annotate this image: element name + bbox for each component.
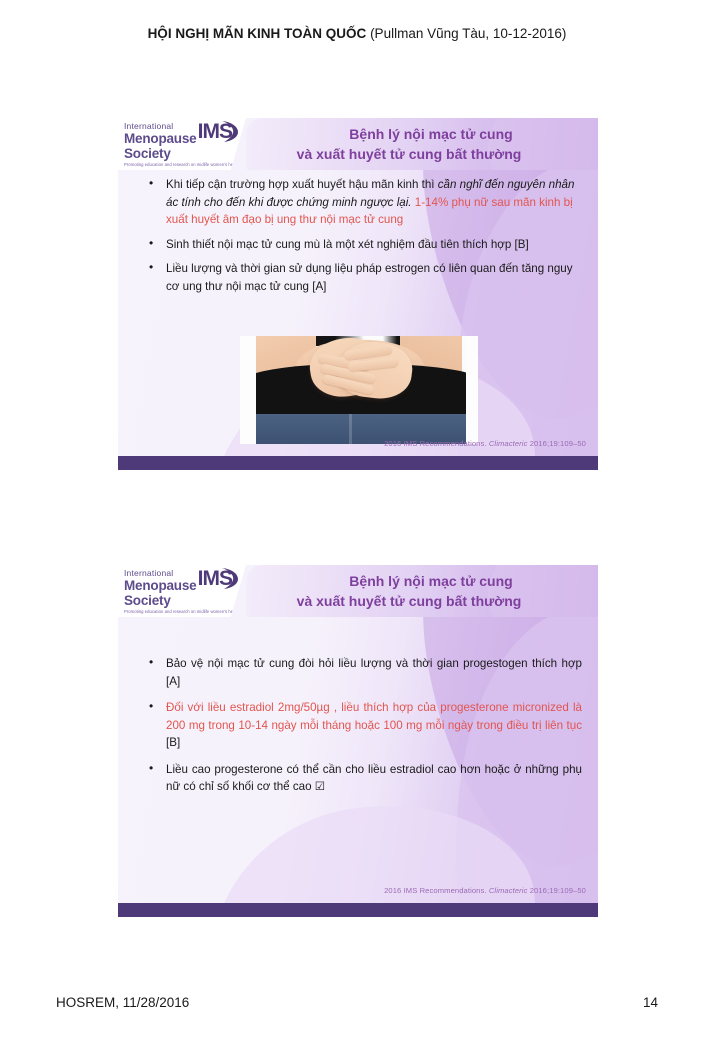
- footer-source: HOSREM, 11/28/2016: [56, 995, 189, 1010]
- bullet-item: Liều lượng và thời gian sử dụng liệu phá…: [144, 260, 586, 295]
- citation-text: 2016 IMS Recommendations. Climacteric 20…: [384, 439, 586, 448]
- bullet-item: Khi tiếp cận trường hợp xuất huyết hậu m…: [144, 176, 586, 229]
- slide-bottom-bar: [118, 456, 598, 470]
- bullet-item: Bảo vệ nội mạc tử cung đòi hỏi liều lượn…: [144, 655, 586, 690]
- slide-banner: IMS International Menopause Society Prom…: [118, 118, 598, 170]
- bullet-item: Sinh thiết nội mạc tử cung mù là một xét…: [144, 236, 586, 254]
- citation-prefix: 2016 IMS Recommendations.: [384, 439, 489, 448]
- slide-2-bullet-list: Bảo vệ nội mạc tử cung đòi hỏi liều lượn…: [144, 655, 586, 796]
- citation-journal: Climacteric: [489, 886, 528, 895]
- slide-title-line2: và xuất huyết tử cung bất thường: [297, 591, 548, 611]
- bullet-item: Liều cao progesterone có thể cần cho liề…: [144, 761, 586, 796]
- citation-journal: Climacteric: [489, 439, 528, 448]
- woman-holding-abdomen-photo: [240, 336, 478, 444]
- ims-logo: IMS International Menopause Society Prom…: [118, 565, 246, 617]
- slide-2: IMS International Menopause Society Prom…: [118, 565, 598, 917]
- slide-banner: IMS International Menopause Society Prom…: [118, 565, 598, 617]
- ims-arrow-icon: [220, 566, 240, 590]
- slide-title-block: Bệnh lý nội mạc tử cung và xuất huyết tử…: [246, 118, 598, 170]
- bullet-item-highlight: Đối với liều estradiol 2mg/50µg , liều t…: [144, 699, 586, 752]
- citation-suffix: 2016;19:109–50: [527, 886, 586, 895]
- ims-logo-tagline: Promoting education and research on midl…: [122, 608, 246, 615]
- footer-page-number: 14: [643, 995, 658, 1010]
- slide-2-body: Bảo vệ nội mạc tử cung đòi hỏi liều lượn…: [144, 655, 586, 805]
- bullet-segment: Liều lượng và thời gian sử dụng liệu phá…: [166, 262, 573, 293]
- slide-title-block: Bệnh lý nội mạc tử cung và xuất huyết tử…: [246, 565, 598, 617]
- conference-venue-date: (Pullman Vũng Tàu, 10-12-2016): [366, 26, 566, 41]
- page-header: HỘI NGHỊ MÃN KINH TOÀN QUỐC (Pullman Vũn…: [0, 25, 714, 43]
- bullet-segment: Bảo vệ nội mạc tử cung đòi hỏi liều lượn…: [166, 657, 582, 688]
- ims-logo: IMS International Menopause Society Prom…: [118, 118, 246, 170]
- bullet-segment: Khi tiếp cận trường hợp xuất huyết hậu m…: [166, 178, 438, 191]
- slide-title-line2: và xuất huyết tử cung bất thường: [297, 144, 548, 164]
- slide-bottom-bar: [118, 903, 598, 917]
- citation-suffix: 2016;19:109–50: [527, 439, 586, 448]
- slide-1-bullet-list: Khi tiếp cận trường hợp xuất huyết hậu m…: [144, 176, 586, 295]
- slide-title-line1: Bệnh lý nội mạc tử cung: [331, 124, 512, 144]
- bullet-segment: Liều cao progesterone có thể cần cho liề…: [166, 763, 582, 794]
- citation-prefix: 2016 IMS Recommendations.: [384, 886, 489, 895]
- slide-1-body: Khi tiếp cận trường hợp xuất huyết hậu m…: [144, 176, 586, 302]
- bullet-segment-grade: [B]: [166, 736, 180, 749]
- slide-title-line1: Bệnh lý nội mạc tử cung: [331, 571, 512, 591]
- bullet-segment: Sinh thiết nội mạc tử cung mù là một xét…: [166, 238, 529, 251]
- conference-title: HỘI NGHỊ MÃN KINH TOÀN QUỐC: [148, 26, 367, 41]
- ims-logo-tagline: Promoting education and research on midl…: [122, 161, 246, 168]
- bullet-segment-highlight: Đối với liều estradiol 2mg/50µg , liều t…: [166, 701, 582, 732]
- citation-text: 2016 IMS Recommendations. Climacteric 20…: [384, 886, 586, 895]
- ims-arrow-icon: [220, 119, 240, 143]
- slide-1: IMS International Menopause Society Prom…: [118, 118, 598, 470]
